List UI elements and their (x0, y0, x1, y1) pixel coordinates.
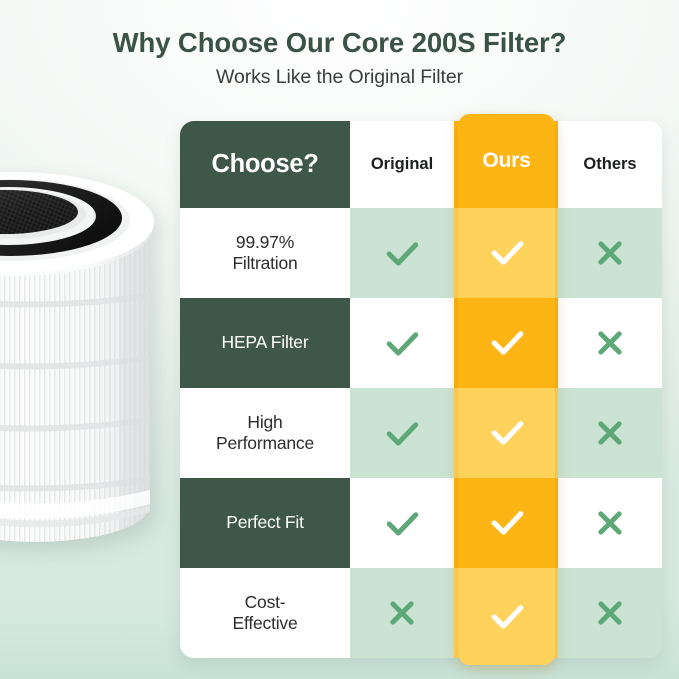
cell-original-row4 (350, 478, 454, 568)
feature-label-line: Cost- (233, 592, 298, 613)
feature-label-line: HEPA Filter (222, 332, 309, 353)
cross-icon (588, 501, 632, 545)
feature-label-line: High (216, 412, 314, 433)
cell-others-row2 (558, 298, 662, 388)
feature-label-line: Perfect Fit (226, 512, 304, 533)
page-header: Why Choose Our Core 200S Filter? Works L… (0, 0, 679, 89)
check-icon (380, 501, 424, 545)
table-row: Cost- Effective (180, 568, 350, 658)
cell-ours-row3 (454, 388, 558, 478)
cell-others-row4 (558, 478, 662, 568)
comparison-grid: Choose? Original Ours Others 99.97% Filt… (180, 121, 662, 658)
page-title: Why Choose Our Core 200S Filter? (0, 27, 679, 59)
cell-original-row5 (350, 568, 454, 658)
cross-icon (588, 411, 632, 455)
cell-original-row2 (350, 298, 454, 388)
feature-label-line: Filtration (232, 253, 297, 274)
comparison-table: Choose? Original Ours Others 99.97% Filt… (180, 121, 662, 658)
cell-others-row5 (558, 568, 662, 658)
cell-ours-row1 (454, 208, 558, 298)
column-header-original: Original (350, 121, 454, 208)
column-header-others: Others (558, 121, 662, 208)
check-icon (380, 321, 424, 365)
cell-original-row3 (350, 388, 454, 478)
feature-label-line: Performance (216, 433, 314, 454)
cell-ours-row5 (454, 568, 558, 658)
hepa-filter-image (0, 152, 214, 572)
feature-label-line: 99.97% (232, 232, 297, 253)
check-icon (380, 231, 424, 275)
cross-icon (588, 591, 632, 635)
cell-original-row1 (350, 208, 454, 298)
column-header-ours: Ours (454, 121, 558, 208)
cross-icon (588, 321, 632, 365)
cross-icon (380, 591, 424, 635)
cell-others-row1 (558, 208, 662, 298)
cell-ours-row2 (454, 298, 558, 388)
hepa-filter-illustration (0, 152, 214, 572)
cell-ours-row4 (454, 478, 558, 568)
cell-others-row3 (558, 388, 662, 478)
cross-icon (588, 231, 632, 275)
check-icon (380, 411, 424, 455)
feature-label-line: Effective (233, 613, 298, 634)
page-subtitle: Works Like the Original Filter (0, 66, 679, 89)
